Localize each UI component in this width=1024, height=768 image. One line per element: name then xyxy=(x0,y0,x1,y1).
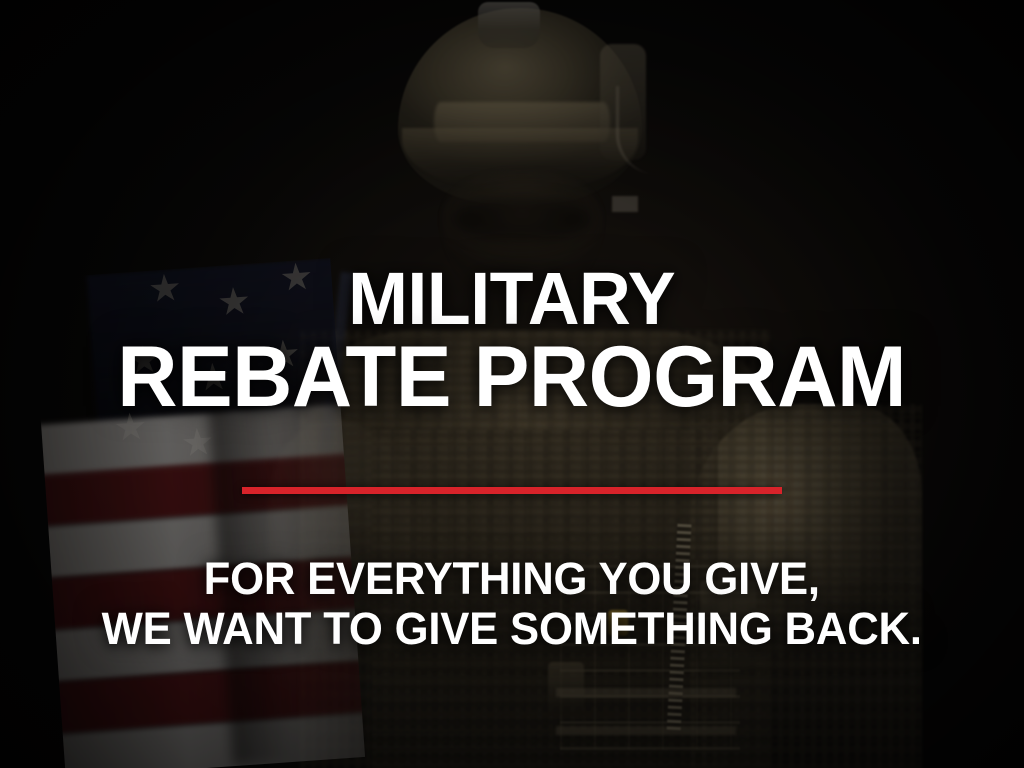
subheadline-line-2: WE WANT TO GIVE SOMETHING BACK. xyxy=(102,604,922,654)
poster-content: MILITARY REBATE PROGRAM FOR EVERYTHING Y… xyxy=(0,0,1024,768)
headline-line-2: REBATE PROGRAM xyxy=(118,336,907,419)
headline-line-1: MILITARY xyxy=(118,263,907,334)
subheadline: FOR EVERYTHING YOU GIVE, WE WANT TO GIVE… xyxy=(102,554,922,655)
page-title: MILITARY REBATE PROGRAM xyxy=(118,263,907,419)
subheadline-line-1: FOR EVERYTHING YOU GIVE, xyxy=(102,554,922,604)
red-divider-rule xyxy=(242,487,782,494)
military-rebate-poster: MILITARY REBATE PROGRAM FOR EVERYTHING Y… xyxy=(0,0,1024,768)
